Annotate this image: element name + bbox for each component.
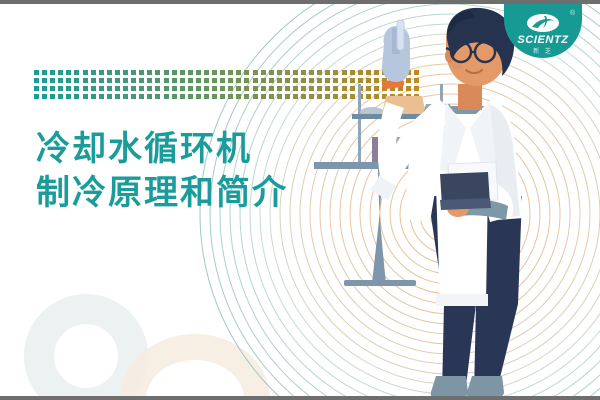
dot-pattern-cell — [91, 94, 96, 99]
dot-pattern-cell — [155, 94, 160, 99]
dot-pattern-cell — [293, 94, 298, 99]
dot-pattern-cell — [66, 94, 71, 99]
dot-pattern-cell — [147, 78, 152, 83]
dot-pattern-cell — [155, 70, 160, 75]
dot-pattern-cell — [74, 86, 79, 91]
dot-pattern-cell — [277, 86, 282, 91]
dot-pattern-cell — [212, 94, 217, 99]
dot-pattern-cell — [188, 94, 193, 99]
dot-pattern-cell — [293, 78, 298, 83]
dot-pattern-cell — [34, 94, 39, 99]
dot-pattern-cell — [42, 94, 47, 99]
dot-pattern-cell — [285, 86, 290, 91]
dot-pattern-cell — [50, 86, 55, 91]
page-title: 冷却水循环机 制冷原理和简介 — [36, 128, 288, 215]
dot-pattern-cell — [261, 78, 266, 83]
dot-pattern-cell — [180, 94, 185, 99]
dot-pattern-cell — [34, 70, 39, 75]
dot-pattern-cell — [58, 94, 63, 99]
dot-pattern-cell — [244, 86, 249, 91]
dot-pattern-cell — [261, 70, 266, 75]
dot-pattern-cell — [172, 70, 177, 75]
dot-pattern-cell — [50, 94, 55, 99]
dot-pattern-cell — [58, 78, 63, 83]
dot-pattern-cell — [74, 70, 79, 75]
dot-pattern-cell — [188, 70, 193, 75]
dot-pattern-cell — [139, 78, 144, 83]
scientist-illustration — [300, 4, 600, 400]
dot-pattern-cell — [196, 70, 201, 75]
dot-pattern-cell — [139, 94, 144, 99]
dot-pattern-cell — [228, 86, 233, 91]
dot-pattern-cell — [115, 86, 120, 91]
dot-pattern-cell — [107, 70, 112, 75]
dot-pattern-cell — [66, 70, 71, 75]
dot-pattern-cell — [123, 86, 128, 91]
dot-pattern-row — [34, 78, 324, 83]
dot-pattern-cell — [115, 94, 120, 99]
dot-pattern-cell — [269, 70, 274, 75]
dot-pattern-cell — [34, 86, 39, 91]
dot-pattern-cell — [228, 94, 233, 99]
dot-pattern-cell — [42, 70, 47, 75]
dot-pattern-cell — [236, 94, 241, 99]
dot-pattern-cell — [180, 70, 185, 75]
dot-pattern-cell — [285, 94, 290, 99]
donut-ring-warm-shape — [120, 334, 270, 396]
dot-pattern-cell — [131, 78, 136, 83]
dot-pattern-cell — [220, 78, 225, 83]
dot-pattern-cell — [236, 86, 241, 91]
dot-pattern-row — [34, 70, 324, 75]
dot-pattern-cell — [204, 86, 209, 91]
dot-pattern-cell — [42, 86, 47, 91]
dot-pattern-cell — [196, 94, 201, 99]
dot-pattern-cell — [74, 78, 79, 83]
dot-pattern-cell — [228, 70, 233, 75]
dot-pattern-cell — [188, 78, 193, 83]
dot-pattern-cell — [107, 86, 112, 91]
dot-pattern-cell — [99, 70, 104, 75]
dot-pattern-cell — [180, 86, 185, 91]
dot-pattern-cell — [123, 70, 128, 75]
dot-pattern-cell — [236, 70, 241, 75]
dot-pattern-cell — [253, 86, 258, 91]
dot-pattern-cell — [285, 70, 290, 75]
dot-pattern-cell — [164, 94, 169, 99]
dot-pattern-cell — [58, 86, 63, 91]
dot-pattern-cell — [147, 94, 152, 99]
dot-pattern-cell — [50, 70, 55, 75]
dot-pattern-cell — [139, 70, 144, 75]
dot-pattern-cell — [293, 70, 298, 75]
logo-brand-subtext: 新 芝 — [504, 46, 582, 55]
logo-swoosh-icon — [526, 13, 560, 33]
brand-logo[interactable]: ® SCIENTZ 新 芝 — [504, 4, 582, 58]
dot-pattern-cell — [269, 86, 274, 91]
donut-ring-cool-shape — [24, 294, 148, 396]
dot-pattern-cell — [107, 94, 112, 99]
dot-pattern-cell — [131, 86, 136, 91]
dot-pattern-cell — [244, 94, 249, 99]
dot-pattern-cell — [91, 86, 96, 91]
dot-pattern-cell — [244, 78, 249, 83]
dot-pattern-cell — [66, 86, 71, 91]
dot-pattern-cell — [228, 78, 233, 83]
dot-pattern-cell — [99, 86, 104, 91]
dot-pattern-cell — [212, 86, 217, 91]
dot-pattern-cell — [123, 78, 128, 83]
dot-pattern-decoration — [34, 70, 324, 104]
dot-pattern-cell — [99, 94, 104, 99]
dot-pattern-cell — [220, 86, 225, 91]
dot-pattern-cell — [83, 78, 88, 83]
dot-pattern-cell — [236, 78, 241, 83]
title-line-2: 制冷原理和简介 — [36, 172, 288, 216]
title-line-1: 冷却水循环机 — [36, 128, 288, 172]
scientist-figure-graphic — [370, 8, 524, 398]
dot-pattern-cell — [83, 94, 88, 99]
dot-pattern-cell — [91, 70, 96, 75]
dot-pattern-cell — [34, 78, 39, 83]
dot-pattern-cell — [139, 86, 144, 91]
dot-pattern-cell — [155, 86, 160, 91]
dot-pattern-cell — [155, 78, 160, 83]
dot-pattern-cell — [147, 86, 152, 91]
dot-pattern-cell — [285, 78, 290, 83]
dot-pattern-cell — [131, 94, 136, 99]
dot-pattern-cell — [91, 78, 96, 83]
dot-pattern-cell — [204, 94, 209, 99]
dot-pattern-cell — [277, 70, 282, 75]
dot-pattern-row — [34, 86, 324, 91]
dot-pattern-cell — [172, 78, 177, 83]
dot-pattern-cell — [172, 94, 177, 99]
dot-pattern-cell — [123, 94, 128, 99]
dot-pattern-cell — [269, 94, 274, 99]
dot-pattern-cell — [172, 86, 177, 91]
dot-pattern-cell — [269, 78, 274, 83]
dot-pattern-cell — [261, 86, 266, 91]
dot-pattern-cell — [204, 70, 209, 75]
poster-banner: 冷却水循环机 制冷原理和简介 — [0, 0, 600, 400]
dot-pattern-cell — [196, 86, 201, 91]
dot-pattern-cell — [115, 70, 120, 75]
dot-pattern-cell — [66, 78, 71, 83]
registered-trademark-icon: ® — [570, 10, 575, 17]
dot-pattern-cell — [50, 78, 55, 83]
dot-pattern-cell — [204, 78, 209, 83]
dot-pattern-cell — [58, 70, 63, 75]
dot-pattern-cell — [164, 86, 169, 91]
dot-pattern-cell — [83, 70, 88, 75]
dot-pattern-cell — [188, 86, 193, 91]
dot-pattern-cell — [212, 78, 217, 83]
dot-pattern-cell — [164, 78, 169, 83]
dot-pattern-cell — [147, 70, 152, 75]
dot-pattern-cell — [83, 86, 88, 91]
dot-pattern-cell — [164, 70, 169, 75]
dot-pattern-cell — [107, 78, 112, 83]
dot-pattern-cell — [115, 78, 120, 83]
logo-brand-text: SCIENTZ — [504, 34, 582, 46]
dot-pattern-cell — [277, 94, 282, 99]
dot-pattern-cell — [293, 86, 298, 91]
dot-pattern-cell — [99, 78, 104, 83]
dot-pattern-cell — [131, 70, 136, 75]
dot-pattern-cell — [261, 94, 266, 99]
dot-pattern-cell — [253, 70, 258, 75]
dot-pattern-cell — [220, 70, 225, 75]
dot-pattern-cell — [180, 78, 185, 83]
dot-pattern-row — [34, 94, 324, 99]
dot-pattern-cell — [253, 78, 258, 83]
dot-pattern-cell — [212, 70, 217, 75]
dot-pattern-cell — [253, 94, 258, 99]
dot-pattern-cell — [196, 78, 201, 83]
dot-pattern-cell — [42, 78, 47, 83]
dot-pattern-cell — [277, 78, 282, 83]
dot-pattern-cell — [220, 94, 225, 99]
dot-pattern-cell — [74, 94, 79, 99]
dot-pattern-cell — [244, 70, 249, 75]
